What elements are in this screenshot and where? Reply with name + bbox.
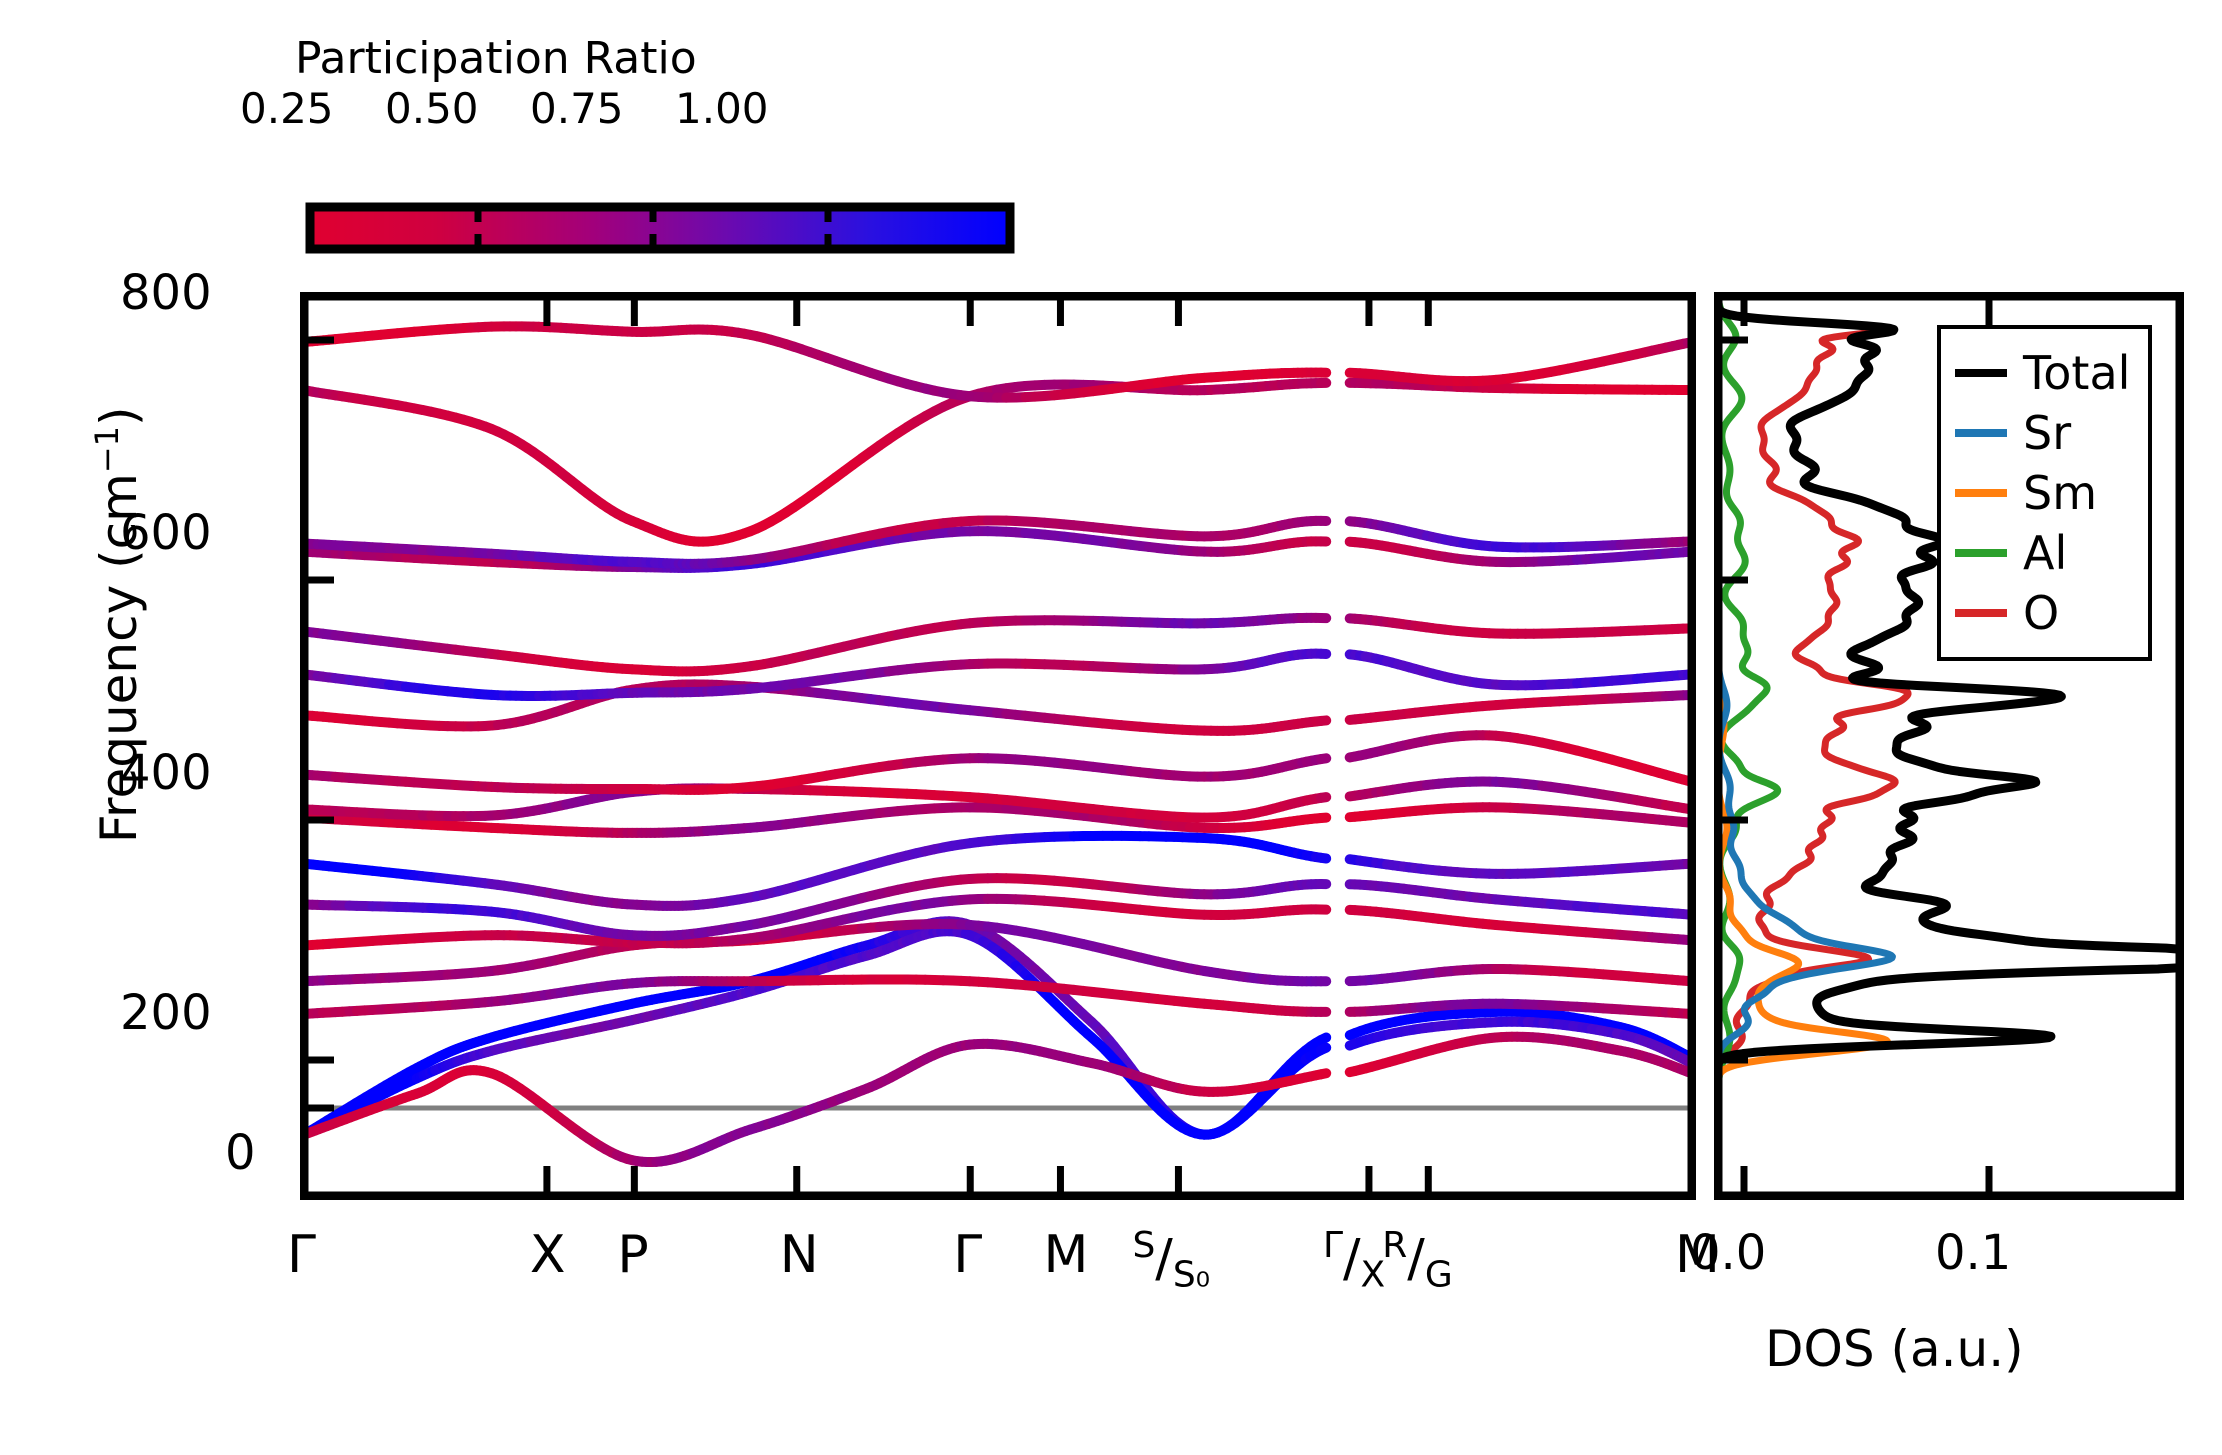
fraction-slash: / <box>1407 1228 1425 1288</box>
legend-color-swatch-o <box>1955 609 2007 617</box>
band-ylabel-exponent: −1 <box>88 426 126 473</box>
band-ytick-400: 400 <box>120 745 212 801</box>
colorbar-tick-0: 0.25 <box>240 84 334 133</box>
band-ytick-800: 800 <box>120 265 212 321</box>
dos-xtick-1: 0.1 <box>1935 1225 2011 1281</box>
band-segment <box>1321 858 1326 859</box>
band-xtick-label: N <box>780 1225 819 1285</box>
fraction-numerator: Γ <box>1323 1225 1343 1266</box>
band-xtick-label: Γ <box>287 1225 316 1285</box>
dos-xaxis-label: DOS (a.u.) <box>1765 1320 2024 1378</box>
band-xtick-label: P <box>617 1225 648 1285</box>
band-xtick-label: Γ <box>953 1225 982 1285</box>
band-xtick-label: X <box>530 1225 566 1285</box>
legend-item[interactable]: Total <box>1955 343 2130 403</box>
band-xtick-label-fraction: R/G <box>1382 1225 1452 1296</box>
fraction-denominator: G <box>1425 1255 1453 1296</box>
colorbar-title: Participation Ratio <box>295 33 697 84</box>
fraction-numerator: S <box>1132 1225 1155 1266</box>
colorbar <box>305 202 1015 254</box>
legend-item[interactable]: Sr <box>1955 403 2130 463</box>
legend-label: Sr <box>2023 410 2071 456</box>
dos-xtick-0: 0.0 <box>1690 1225 1766 1281</box>
legend-item[interactable]: O <box>1955 583 2130 643</box>
legend-label: Sm <box>2023 470 2097 516</box>
legend-color-swatch-sm <box>1955 489 2007 497</box>
legend-label: Al <box>2023 530 2067 576</box>
band-xtick-label-fraction: S/S₀ <box>1132 1225 1210 1296</box>
band-ytick-600: 600 <box>120 505 212 561</box>
fraction-slash: / <box>1343 1228 1361 1288</box>
band-ylabel: Frequency (cm−1) <box>88 345 148 905</box>
colorbar-tick-3: 1.00 <box>675 84 769 133</box>
legend-color-swatch-sr <box>1955 429 2007 437</box>
legend-color-swatch-al <box>1955 549 2007 557</box>
dos-legend: TotalSrSmAlO <box>1937 325 2152 661</box>
band-segment <box>1321 758 1326 759</box>
band-ytick-200: 200 <box>120 985 212 1041</box>
band-segment <box>1321 720 1326 721</box>
band-structure-plot <box>300 292 1696 1200</box>
legend-color-swatch-total <box>1955 369 2007 377</box>
band-ytick-0: 0 <box>225 1125 256 1181</box>
legend-item[interactable]: Al <box>1955 523 2130 583</box>
band-xtick-label-fraction: Γ/X <box>1323 1225 1385 1296</box>
phonon-figure: Participation Ratio 0.25 0.50 0.75 1.00 <box>0 0 2222 1455</box>
band-segment <box>1321 797 1326 798</box>
legend-label: O <box>2023 590 2059 636</box>
fraction-numerator: R <box>1382 1225 1407 1266</box>
band-segment <box>1321 1073 1326 1074</box>
legend-label: Total <box>2023 350 2130 396</box>
fraction-denominator: S₀ <box>1173 1255 1210 1296</box>
band-ylabel-paren: ) <box>90 407 148 427</box>
band-segment <box>1321 1048 1326 1050</box>
colorbar-tick-1: 0.50 <box>385 84 479 133</box>
band-segment <box>1321 1037 1326 1040</box>
fraction-slash: / <box>1155 1228 1173 1288</box>
colorbar-tick-2: 0.75 <box>530 84 624 133</box>
legend-item[interactable]: Sm <box>1955 463 2130 523</box>
band-xtick-label: M <box>1043 1225 1088 1285</box>
